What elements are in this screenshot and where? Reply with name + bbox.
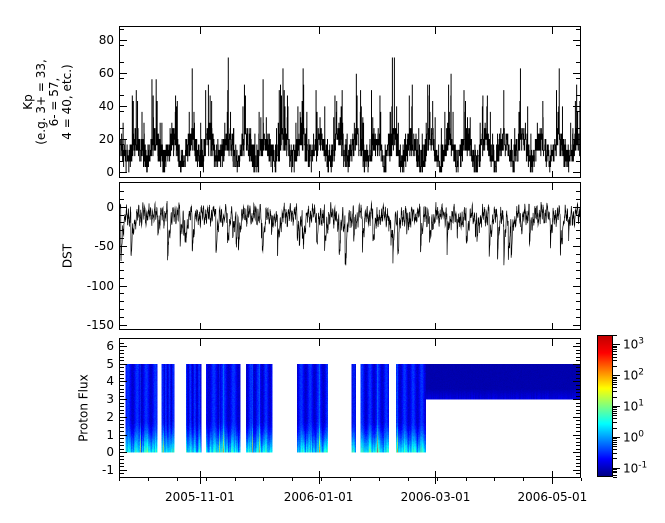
tick-mark (573, 40, 580, 41)
tick-mark (319, 183, 320, 190)
mantissa: 10 (623, 400, 638, 414)
x-tick-label: 2005-11-01 (165, 490, 235, 504)
tick-mark (613, 415, 617, 416)
tick-mark (120, 177, 124, 178)
tick-mark (573, 364, 580, 365)
tick-mark (206, 478, 207, 481)
tick-mark (435, 171, 436, 178)
tick-mark (576, 45, 580, 46)
tick-mark (292, 478, 293, 481)
tick-mark (576, 254, 580, 255)
x-tick-label: 2006-05-01 (517, 490, 587, 504)
axis-title: Proton Flux (78, 374, 91, 441)
tick-mark (200, 478, 201, 484)
tick-mark (319, 171, 320, 178)
tick-mark (120, 161, 124, 162)
tick-mark (120, 29, 124, 30)
tick-mark (613, 380, 617, 381)
tick-label: 6 (106, 339, 114, 353)
tick-mark (379, 478, 380, 481)
tick-mark (120, 360, 124, 361)
tick-mark (613, 351, 617, 352)
tick-mark (120, 95, 124, 96)
tick-mark (120, 62, 124, 63)
tick-mark (120, 293, 124, 294)
tick-mark (120, 431, 124, 432)
tick-mark (576, 371, 580, 372)
tick-mark (120, 413, 124, 414)
tick-mark (435, 471, 436, 478)
exponent: 0 (638, 430, 644, 440)
tick-mark (120, 111, 124, 112)
tick-mark (576, 378, 580, 379)
tick-mark (120, 442, 124, 443)
tick-mark (613, 446, 617, 447)
tick-mark (576, 449, 580, 450)
tick-mark (613, 347, 617, 348)
tick-label: -50 (94, 239, 114, 253)
tick-label: 80 (99, 33, 114, 47)
tick-mark (120, 346, 127, 347)
tick-mark (120, 374, 124, 375)
tick-mark (120, 452, 127, 453)
mantissa: 10 (623, 431, 638, 445)
tick-mark (120, 466, 124, 467)
tick-mark (319, 27, 320, 34)
tick-mark (120, 343, 124, 344)
tick-label: -150 (87, 318, 114, 332)
tick-mark (120, 191, 124, 192)
tick-mark (120, 473, 124, 474)
tick-mark (120, 78, 124, 79)
tick-mark (120, 172, 127, 173)
tick-mark (120, 424, 124, 425)
tick-mark (120, 438, 124, 439)
tick-mark (576, 238, 580, 239)
mantissa: 10 (623, 462, 638, 476)
colorbar-tick-label: 103 (623, 337, 644, 352)
tick-mark (120, 371, 124, 372)
tick-mark (613, 378, 617, 379)
tick-mark (576, 431, 580, 432)
tick-mark (573, 325, 580, 326)
tick-mark (200, 27, 201, 34)
tick-label: 0 (106, 165, 114, 179)
tick-mark (613, 344, 620, 345)
tick-mark (613, 391, 617, 392)
tick-label: 1 (106, 428, 114, 442)
axis-title-line: Proton Flux (78, 374, 91, 441)
tick-mark (120, 385, 124, 386)
tick-label: -1 (102, 463, 114, 477)
tick-mark (573, 246, 580, 247)
tick-mark (576, 403, 580, 404)
tick-label: 5 (106, 357, 114, 371)
exponent: 1 (638, 399, 644, 409)
tick-mark (613, 418, 617, 419)
tick-mark (613, 444, 617, 445)
tick-mark (119, 478, 120, 481)
colorbar-tick-label: 102 (623, 368, 644, 383)
tick-mark (576, 199, 580, 200)
tick-mark (552, 339, 553, 346)
tick-mark (613, 397, 617, 398)
tick-mark (576, 301, 580, 302)
tick-mark (573, 435, 580, 436)
tick-mark (120, 406, 124, 407)
tick-mark (573, 470, 580, 471)
tick-mark (120, 278, 124, 279)
tick-mark (576, 177, 580, 178)
tick-mark (613, 360, 617, 361)
tick-mark (613, 387, 617, 388)
tick-mark (120, 207, 127, 208)
tick-mark (613, 440, 617, 441)
tick-mark (613, 346, 617, 347)
tick-mark (120, 199, 124, 200)
tick-mark (613, 349, 617, 350)
tick-mark (494, 478, 495, 481)
tick-mark (120, 378, 124, 379)
tick-mark (613, 354, 617, 355)
tick-mark (120, 238, 124, 239)
tick-label: 4 (106, 374, 114, 388)
tick-mark (200, 471, 201, 478)
tick-mark (120, 463, 124, 464)
tick-mark (120, 350, 124, 351)
tick-label: 0 (106, 200, 114, 214)
tick-mark (576, 343, 580, 344)
tick-mark (576, 466, 580, 467)
space-weather-figure: 020406080 Kp(e.g. 3+ = 33,6- = 57,4 = 40… (0, 0, 665, 523)
tick-mark (613, 335, 617, 336)
tick-mark (576, 420, 580, 421)
tick-mark (466, 478, 467, 481)
tick-mark (120, 353, 124, 354)
tick-mark (120, 449, 124, 450)
tick-mark (552, 471, 553, 478)
tick-mark (613, 366, 617, 367)
tick-mark (576, 29, 580, 30)
axis-title: DST (62, 244, 75, 268)
x-tick-label: 2006-03-01 (401, 490, 471, 504)
tick-mark (576, 278, 580, 279)
tick-mark (120, 435, 127, 436)
tick-mark (613, 407, 617, 408)
tick-mark (576, 406, 580, 407)
tick-mark (120, 396, 124, 397)
dst-series-plot (120, 183, 580, 329)
tick-mark (576, 367, 580, 368)
tick-mark (177, 478, 178, 481)
tick-mark (576, 410, 580, 411)
tick-mark (200, 183, 201, 190)
tick-label: -100 (87, 279, 114, 293)
tick-mark (576, 317, 580, 318)
x-tick-label: 2006-01-01 (284, 490, 354, 504)
tick-mark (613, 469, 617, 470)
tick-mark (573, 73, 580, 74)
tick-mark (120, 399, 127, 400)
tick-mark (120, 367, 124, 368)
axis-title-line: 4 = 40, etc.) (61, 59, 74, 145)
tick-mark (120, 445, 124, 446)
tick-mark (613, 442, 617, 443)
tick-mark (120, 286, 127, 287)
tick-mark (613, 471, 617, 472)
tick-label: 60 (99, 66, 114, 80)
tick-mark (435, 339, 436, 346)
tick-mark (576, 350, 580, 351)
tick-mark (613, 384, 617, 385)
tick-mark (120, 106, 127, 107)
tick-mark (576, 396, 580, 397)
tick-mark (613, 375, 620, 376)
tick-mark (613, 428, 617, 429)
tick-mark (576, 385, 580, 386)
exponent: 3 (638, 337, 644, 347)
tick-label: 40 (99, 99, 114, 113)
colorbar-frame (597, 335, 613, 477)
tick-mark (200, 323, 201, 330)
tick-mark (321, 478, 322, 481)
tick-mark (613, 382, 617, 383)
axis-title-line: DST (62, 244, 75, 268)
tick-mark (576, 463, 580, 464)
tick-mark (576, 442, 580, 443)
tick-mark (576, 270, 580, 271)
tick-mark (576, 427, 580, 428)
tick-mark (613, 472, 617, 473)
tick-mark (576, 144, 580, 145)
tick-mark (120, 364, 127, 365)
tick-mark (576, 424, 580, 425)
tick-mark (120, 410, 124, 411)
tick-mark (552, 27, 553, 34)
tick-mark (576, 78, 580, 79)
tick-mark (120, 417, 127, 418)
tick-mark (120, 262, 124, 263)
tick-mark (552, 183, 553, 190)
tick-mark (148, 478, 149, 481)
tick-mark (573, 346, 580, 347)
tick-mark (613, 453, 617, 454)
tick-mark (573, 286, 580, 287)
tick-mark (576, 161, 580, 162)
tick-mark (200, 171, 201, 178)
tick-mark (613, 458, 617, 459)
proton-flux-heatmap (120, 339, 580, 477)
tick-mark (319, 323, 320, 330)
tick-mark (120, 392, 124, 393)
tick-mark (573, 106, 580, 107)
tick-mark (576, 353, 580, 354)
tick-mark (613, 477, 617, 478)
tick-mark (576, 293, 580, 294)
tick-mark (581, 478, 582, 481)
tick-mark (120, 144, 124, 145)
tick-mark (576, 473, 580, 474)
tick-mark (408, 478, 409, 481)
tick-mark (319, 339, 320, 346)
tick-mark (613, 422, 617, 423)
mantissa: 10 (623, 338, 638, 352)
tick-mark (120, 139, 127, 140)
exponent: -1 (638, 461, 647, 471)
tick-mark (573, 417, 580, 418)
tick-mark (613, 413, 617, 414)
tick-mark (573, 399, 580, 400)
tick-mark (120, 420, 124, 421)
tick-mark (120, 40, 127, 41)
tick-mark (576, 222, 580, 223)
tick-mark (120, 45, 124, 46)
tick-mark (576, 357, 580, 358)
tick-mark (576, 215, 580, 216)
tick-mark (576, 230, 580, 231)
tick-mark (576, 392, 580, 393)
tick-mark (576, 191, 580, 192)
tick-mark (576, 111, 580, 112)
tick-mark (437, 478, 438, 481)
tick-mark (120, 246, 127, 247)
tick-mark (319, 478, 320, 484)
tick-mark (613, 377, 617, 378)
tick-mark (573, 207, 580, 208)
tick-mark (576, 95, 580, 96)
tick-mark (120, 128, 124, 129)
tick-mark (435, 323, 436, 330)
tick-mark (435, 27, 436, 34)
tick-mark (120, 270, 124, 271)
tick-mark (552, 171, 553, 178)
tick-mark (576, 477, 580, 478)
tick-mark (120, 389, 124, 390)
tick-mark (120, 381, 127, 382)
tick-mark (613, 475, 617, 476)
tick-mark (120, 317, 124, 318)
mantissa: 10 (623, 369, 638, 383)
tick-mark (576, 389, 580, 390)
tick-mark (319, 471, 320, 478)
tick-mark (573, 381, 580, 382)
tick-mark (576, 413, 580, 414)
tick-mark (613, 438, 617, 439)
tick-label: 0 (106, 445, 114, 459)
tick-mark (120, 456, 124, 457)
tick-mark (613, 449, 617, 450)
tick-mark (235, 478, 236, 481)
tick-mark (120, 459, 124, 460)
tick-mark (576, 360, 580, 361)
tick-mark (613, 409, 617, 410)
tick-mark (576, 374, 580, 375)
tick-mark (573, 172, 580, 173)
tick-mark (576, 262, 580, 263)
kp-series-plot (120, 27, 580, 177)
tick-mark (200, 339, 201, 346)
tick-mark (576, 128, 580, 129)
tick-mark (613, 357, 617, 358)
tick-mark (120, 470, 127, 471)
tick-mark (120, 357, 124, 358)
tick-mark (120, 222, 124, 223)
tick-mark (552, 478, 553, 481)
tick-mark (573, 452, 580, 453)
tick-mark (120, 403, 124, 404)
tick-label: 20 (99, 132, 114, 146)
tick-mark (120, 427, 124, 428)
colorbar-tick-label: 100 (623, 430, 644, 445)
tick-mark (120, 325, 127, 326)
tick-mark (576, 456, 580, 457)
tick-mark (350, 478, 351, 481)
tick-mark (120, 254, 124, 255)
tick-mark (576, 62, 580, 63)
tick-label: 3 (106, 392, 114, 406)
tick-mark (523, 478, 524, 481)
tick-label: 2 (106, 410, 114, 424)
tick-mark (120, 309, 124, 310)
tick-mark (120, 230, 124, 231)
exponent: 2 (638, 368, 644, 378)
tick-mark (576, 438, 580, 439)
tick-mark (120, 215, 124, 216)
tick-mark (435, 478, 436, 484)
colorbar-tick-label: 101 (623, 399, 644, 414)
tick-mark (613, 411, 617, 412)
tick-mark (263, 478, 264, 481)
tick-mark (573, 139, 580, 140)
tick-mark (435, 183, 436, 190)
tick-mark (552, 323, 553, 330)
tick-mark (576, 445, 580, 446)
tick-mark (120, 73, 127, 74)
tick-mark (576, 459, 580, 460)
tick-mark (120, 301, 124, 302)
axis-title: Kp(e.g. 3+ = 33,6- = 57,4 = 40, etc.) (22, 59, 74, 145)
colorbar-tick-label: 10-1 (623, 461, 647, 476)
tick-mark (576, 309, 580, 310)
tick-mark (120, 477, 124, 478)
